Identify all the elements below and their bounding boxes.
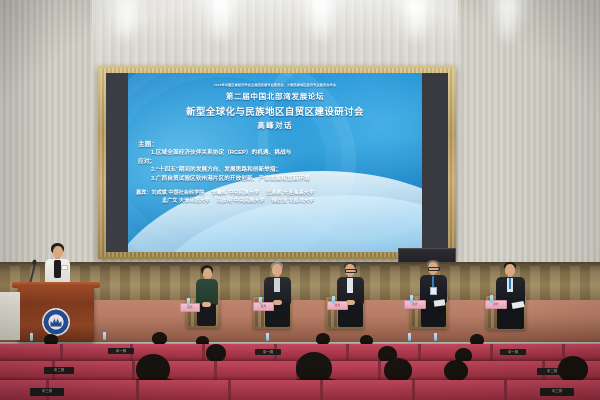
panelist-4 [418, 260, 450, 328]
nameplate-text: 嘉宾 [181, 304, 199, 311]
guest-name: 冯彦明 [217, 198, 232, 204]
ceiling-spotlight-beam [313, 0, 329, 46]
audience-head [384, 358, 412, 382]
slide-guests-block: 嘉宾：刘成斌 中国社会科学院李曦辉 中央民族大学王淑敏 大连海事大学 孟广文 天… [136, 189, 418, 206]
projection-screen-frame: 2020年中国区域经济学会主席团发展专业委员会、少数民族地区经济专业委员会年会 … [98, 66, 456, 259]
audience-area: 中一排 中一排 中一排 中二排 中二排 [0, 330, 600, 400]
seat-row-label: 中二排 [44, 367, 74, 374]
panelist-5-lanyard [509, 278, 511, 289]
slide-guests-row-2: 孟广文 天津师范大学冯彦明 中央民族大学傅远佳 北部湾大学 [136, 197, 418, 205]
row-label-text: 中一排 [108, 348, 134, 353]
panelist-nameplate: 嘉宾 [404, 300, 426, 309]
slide-text-layer: 2020年中国区域经济学会主席团发展专业委员会、少数民族地区经济专业委员会年会 … [128, 73, 422, 252]
slide-topics-block: 主题： 1.区域全面经济伙伴关系协定（RCEP）的机遇、挑战与 应对； 2.“十… [138, 139, 416, 183]
water-bottle [259, 297, 262, 305]
screen-dark-margin-left [106, 73, 128, 252]
nameplate-text: 嘉宾 [405, 301, 425, 308]
slide-topic-item: 1.区域全面经济伙伴关系协定（RCEP）的机遇、挑战与 [138, 149, 416, 158]
slide-main-title: 新型全球化与民族地区自贸区建设研讨会 [128, 104, 422, 118]
slide-subtitle: 高峰对话 [128, 120, 422, 131]
panelist-nameplate: 嘉宾 [485, 300, 507, 309]
water-bottle [410, 295, 413, 303]
guest-name: 孟广文 [162, 198, 177, 204]
seat-row-label: 中三排 [30, 388, 64, 396]
panelist-5 [494, 262, 528, 330]
hall-wall-left [0, 0, 92, 275]
speaker-badge [61, 265, 68, 270]
panelist-2-hands [273, 300, 282, 305]
seat-row-label: 中三排 [540, 388, 574, 396]
panelist-4-badge [430, 287, 437, 295]
row-label-text: 中三排 [30, 388, 64, 393]
guest-name: 李曦辉 [211, 190, 226, 196]
slide-organization-line: 2020年中国区域经济学会主席团发展专业委员会、少数民族地区经济专业委员会年会 [128, 82, 422, 87]
seat-row[interactable] [0, 380, 600, 400]
ceiling-spotlight-beam [118, 0, 134, 46]
speaker-inner-top [54, 260, 61, 278]
audience-head [558, 356, 588, 382]
water-bottle [332, 296, 335, 304]
row-label-text: 中二排 [44, 367, 74, 372]
guest-affiliation: 中央民族大学 [228, 190, 259, 196]
panelist-1 [194, 265, 220, 327]
nameplate-text: 嘉宾 [328, 302, 347, 309]
slide-topics-label: 主题： [138, 139, 416, 148]
panelist-2-shirt [274, 278, 280, 292]
seat-row-label: 中一排 [255, 349, 281, 355]
glasses-icon [345, 269, 357, 273]
guest-name: 王淑敏 [266, 190, 281, 196]
nameplate-text: 嘉宾 [254, 303, 273, 310]
audience-head [444, 360, 468, 381]
row-label-text: 中一排 [255, 349, 281, 354]
conference-hall-photo: 2020年中国区域经济学会主席团发展专业委员会、少数民族地区经济专业委员会年会 … [0, 0, 600, 400]
water-bottle [490, 295, 493, 303]
slide-guests-label: 嘉宾： [136, 190, 151, 196]
panelist-3-shirt [347, 278, 353, 293]
water-bottle [187, 298, 190, 306]
ceiling-spotlight-beam [500, 0, 516, 46]
row-label-text: 中一排 [500, 349, 526, 354]
seat-row-label: 中一排 [500, 349, 526, 355]
slide-forum-name: 第二届中国北部湾发展论坛 [128, 91, 422, 102]
slide-topic-item: 3.广西自贸试验区钦州港片区的开放创新、产业发展和营商环境 [138, 175, 416, 184]
slide-topic-continuation: 应对； [138, 158, 416, 167]
guest-affiliation: 天津师范大学 [179, 198, 210, 204]
panelist-nameplate: 嘉宾 [180, 303, 200, 312]
screen-dark-margin-right [422, 73, 448, 252]
slide-topics-list: 1.区域全面经济伙伴关系协定（RCEP）的机遇、挑战与 应对； 2.“十四五”期… [138, 149, 416, 183]
slide-topic-item: 2.“十四五”期间的发展方向、发展思路和创新举措； [138, 166, 416, 175]
glasses-icon [428, 267, 440, 271]
guest-affiliation: 北部湾大学 [288, 198, 314, 204]
panelist-2 [262, 262, 294, 328]
guest-affiliation: 中国社会科学院 [168, 190, 204, 196]
ceiling-spotlight-beam [213, 0, 229, 46]
guest-name: 傅远佳 [272, 198, 287, 204]
panelist-nameplate: 嘉宾 [253, 302, 274, 311]
panelist-3 [335, 262, 367, 328]
projection-screen: 2020年中国区域经济学会主席团发展专业委员会、少数民族地区经济专业委员会年会 … [106, 73, 448, 252]
nameplate-text: 嘉宾 [486, 301, 506, 308]
audience-head [206, 344, 226, 362]
row-label-text: 中三排 [540, 388, 574, 393]
guest-name: 刘成斌 [151, 190, 166, 196]
panelist-nameplate: 嘉宾 [327, 301, 348, 310]
panelist-1-hands [202, 302, 211, 307]
presentation-slide: 2020年中国区域经济学会主席团发展专业委员会、少数民族地区经济专业委员会年会 … [128, 73, 422, 252]
guest-affiliation: 中央民族大学 [234, 198, 265, 204]
guest-affiliation: 大连海事大学 [283, 190, 314, 196]
seat-row-label: 中一排 [108, 348, 134, 354]
hall-wall-right [458, 0, 600, 275]
ceiling-spotlight-beam [408, 0, 424, 46]
